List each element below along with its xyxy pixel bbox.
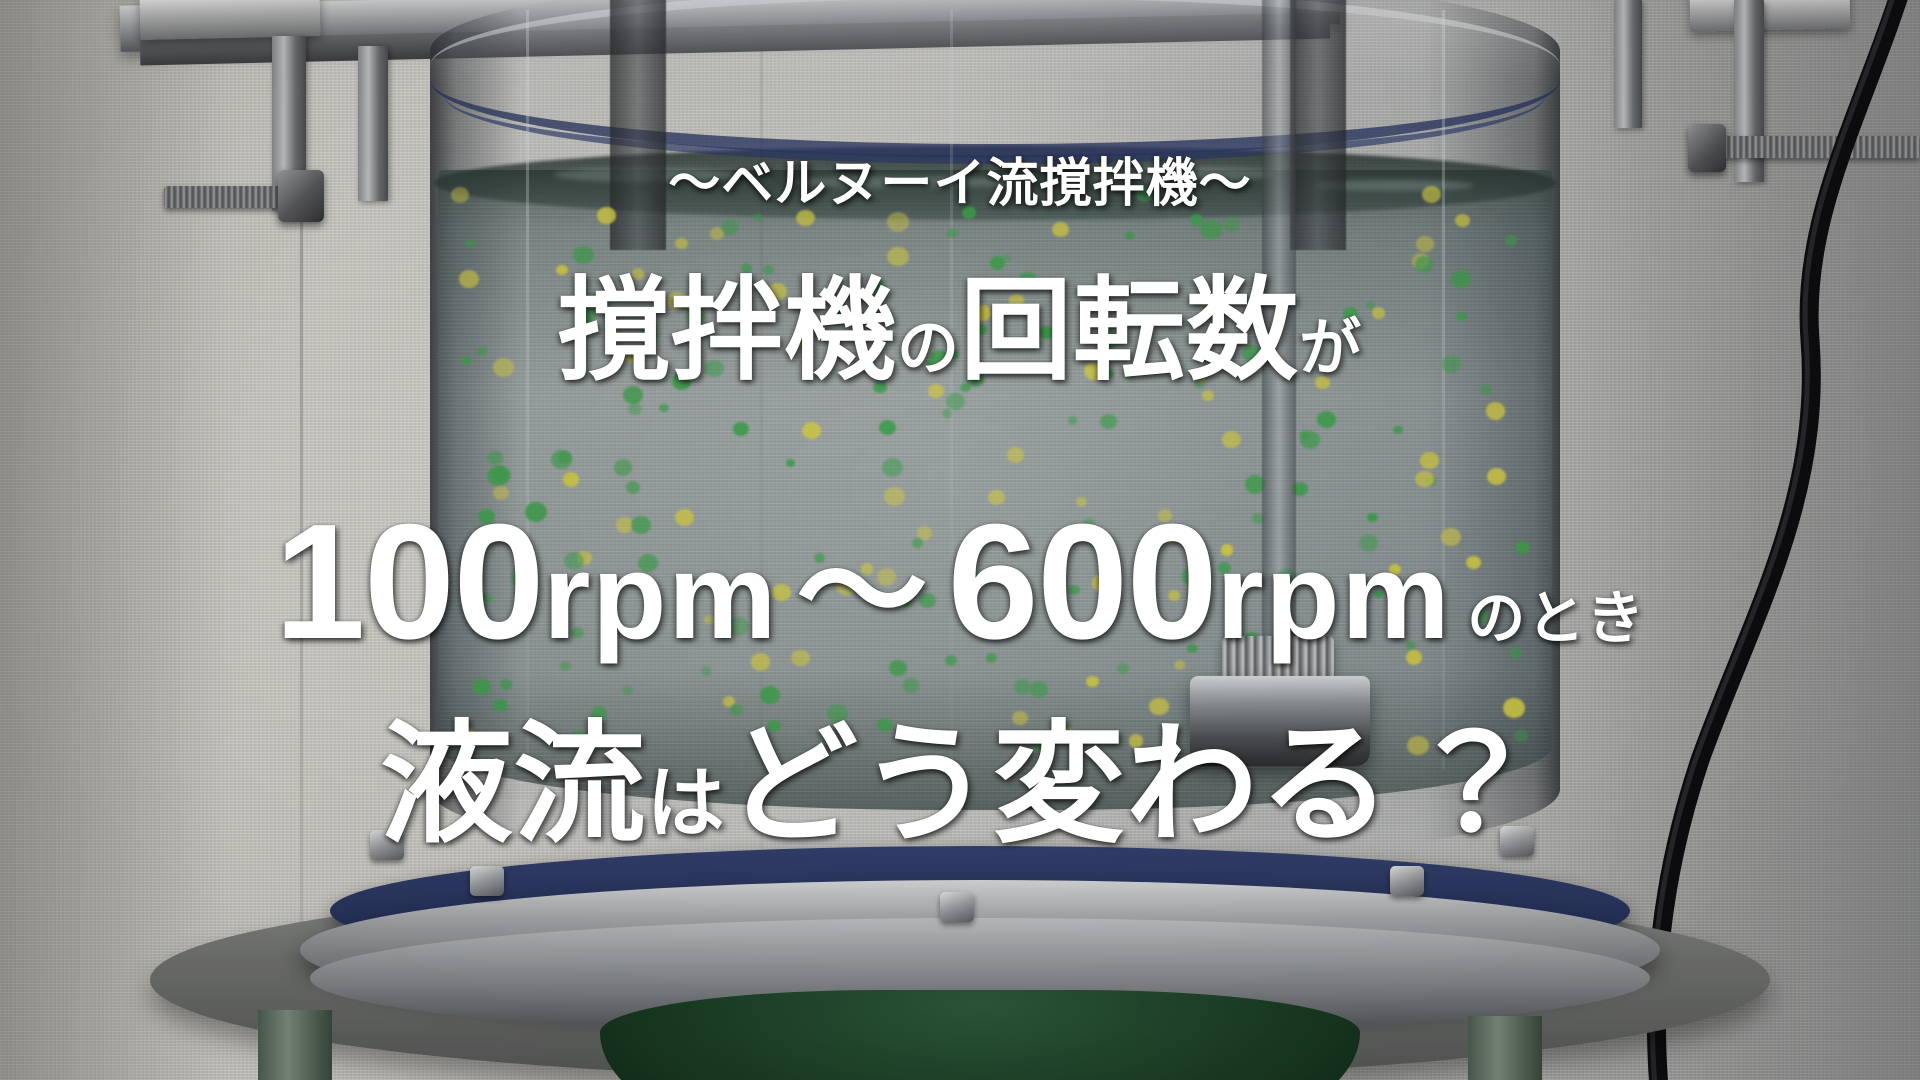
headline-1-part-2: の xyxy=(897,314,960,383)
headline-1-part-1: 撹拌機 xyxy=(558,268,897,393)
thumbnail-canvas: 〜ベルヌーイ流撹拌機〜 撹拌機の回転数が 100rpm〜600rpmのとき 液流… xyxy=(0,0,1920,1080)
headline-line-1: 撹拌機の回転数が xyxy=(0,272,1920,391)
rpm-low-value: 100 xyxy=(274,490,543,673)
headline-3-part-2: は xyxy=(647,759,726,847)
headline-line-3: 液流はどう変わる？ xyxy=(0,716,1920,853)
rpm-low-unit: rpm xyxy=(543,528,778,664)
rpm-range-mark: 〜 xyxy=(796,519,930,666)
rpm-high-value: 600 xyxy=(947,490,1216,673)
headline-3-part-1: 液流 xyxy=(380,711,647,858)
headline-3-part-3: どう変わる xyxy=(726,711,1393,858)
headline-3-question-mark: ？ xyxy=(1407,711,1540,858)
headline-1-part-3: 回転数 xyxy=(960,268,1299,393)
subtitle-text: 〜ベルヌーイ流撹拌機〜 xyxy=(0,158,1920,210)
headline-line-2: 100rpm〜600rpmのとき xyxy=(0,498,1920,665)
rpm-high-unit: rpm xyxy=(1216,528,1451,664)
title-overlay: 〜ベルヌーイ流撹拌機〜 撹拌機の回転数が 100rpm〜600rpmのとき 液流… xyxy=(0,0,1920,1080)
headline-1-part-4: が xyxy=(1299,314,1362,383)
rpm-tail-text: のとき xyxy=(1467,586,1646,651)
